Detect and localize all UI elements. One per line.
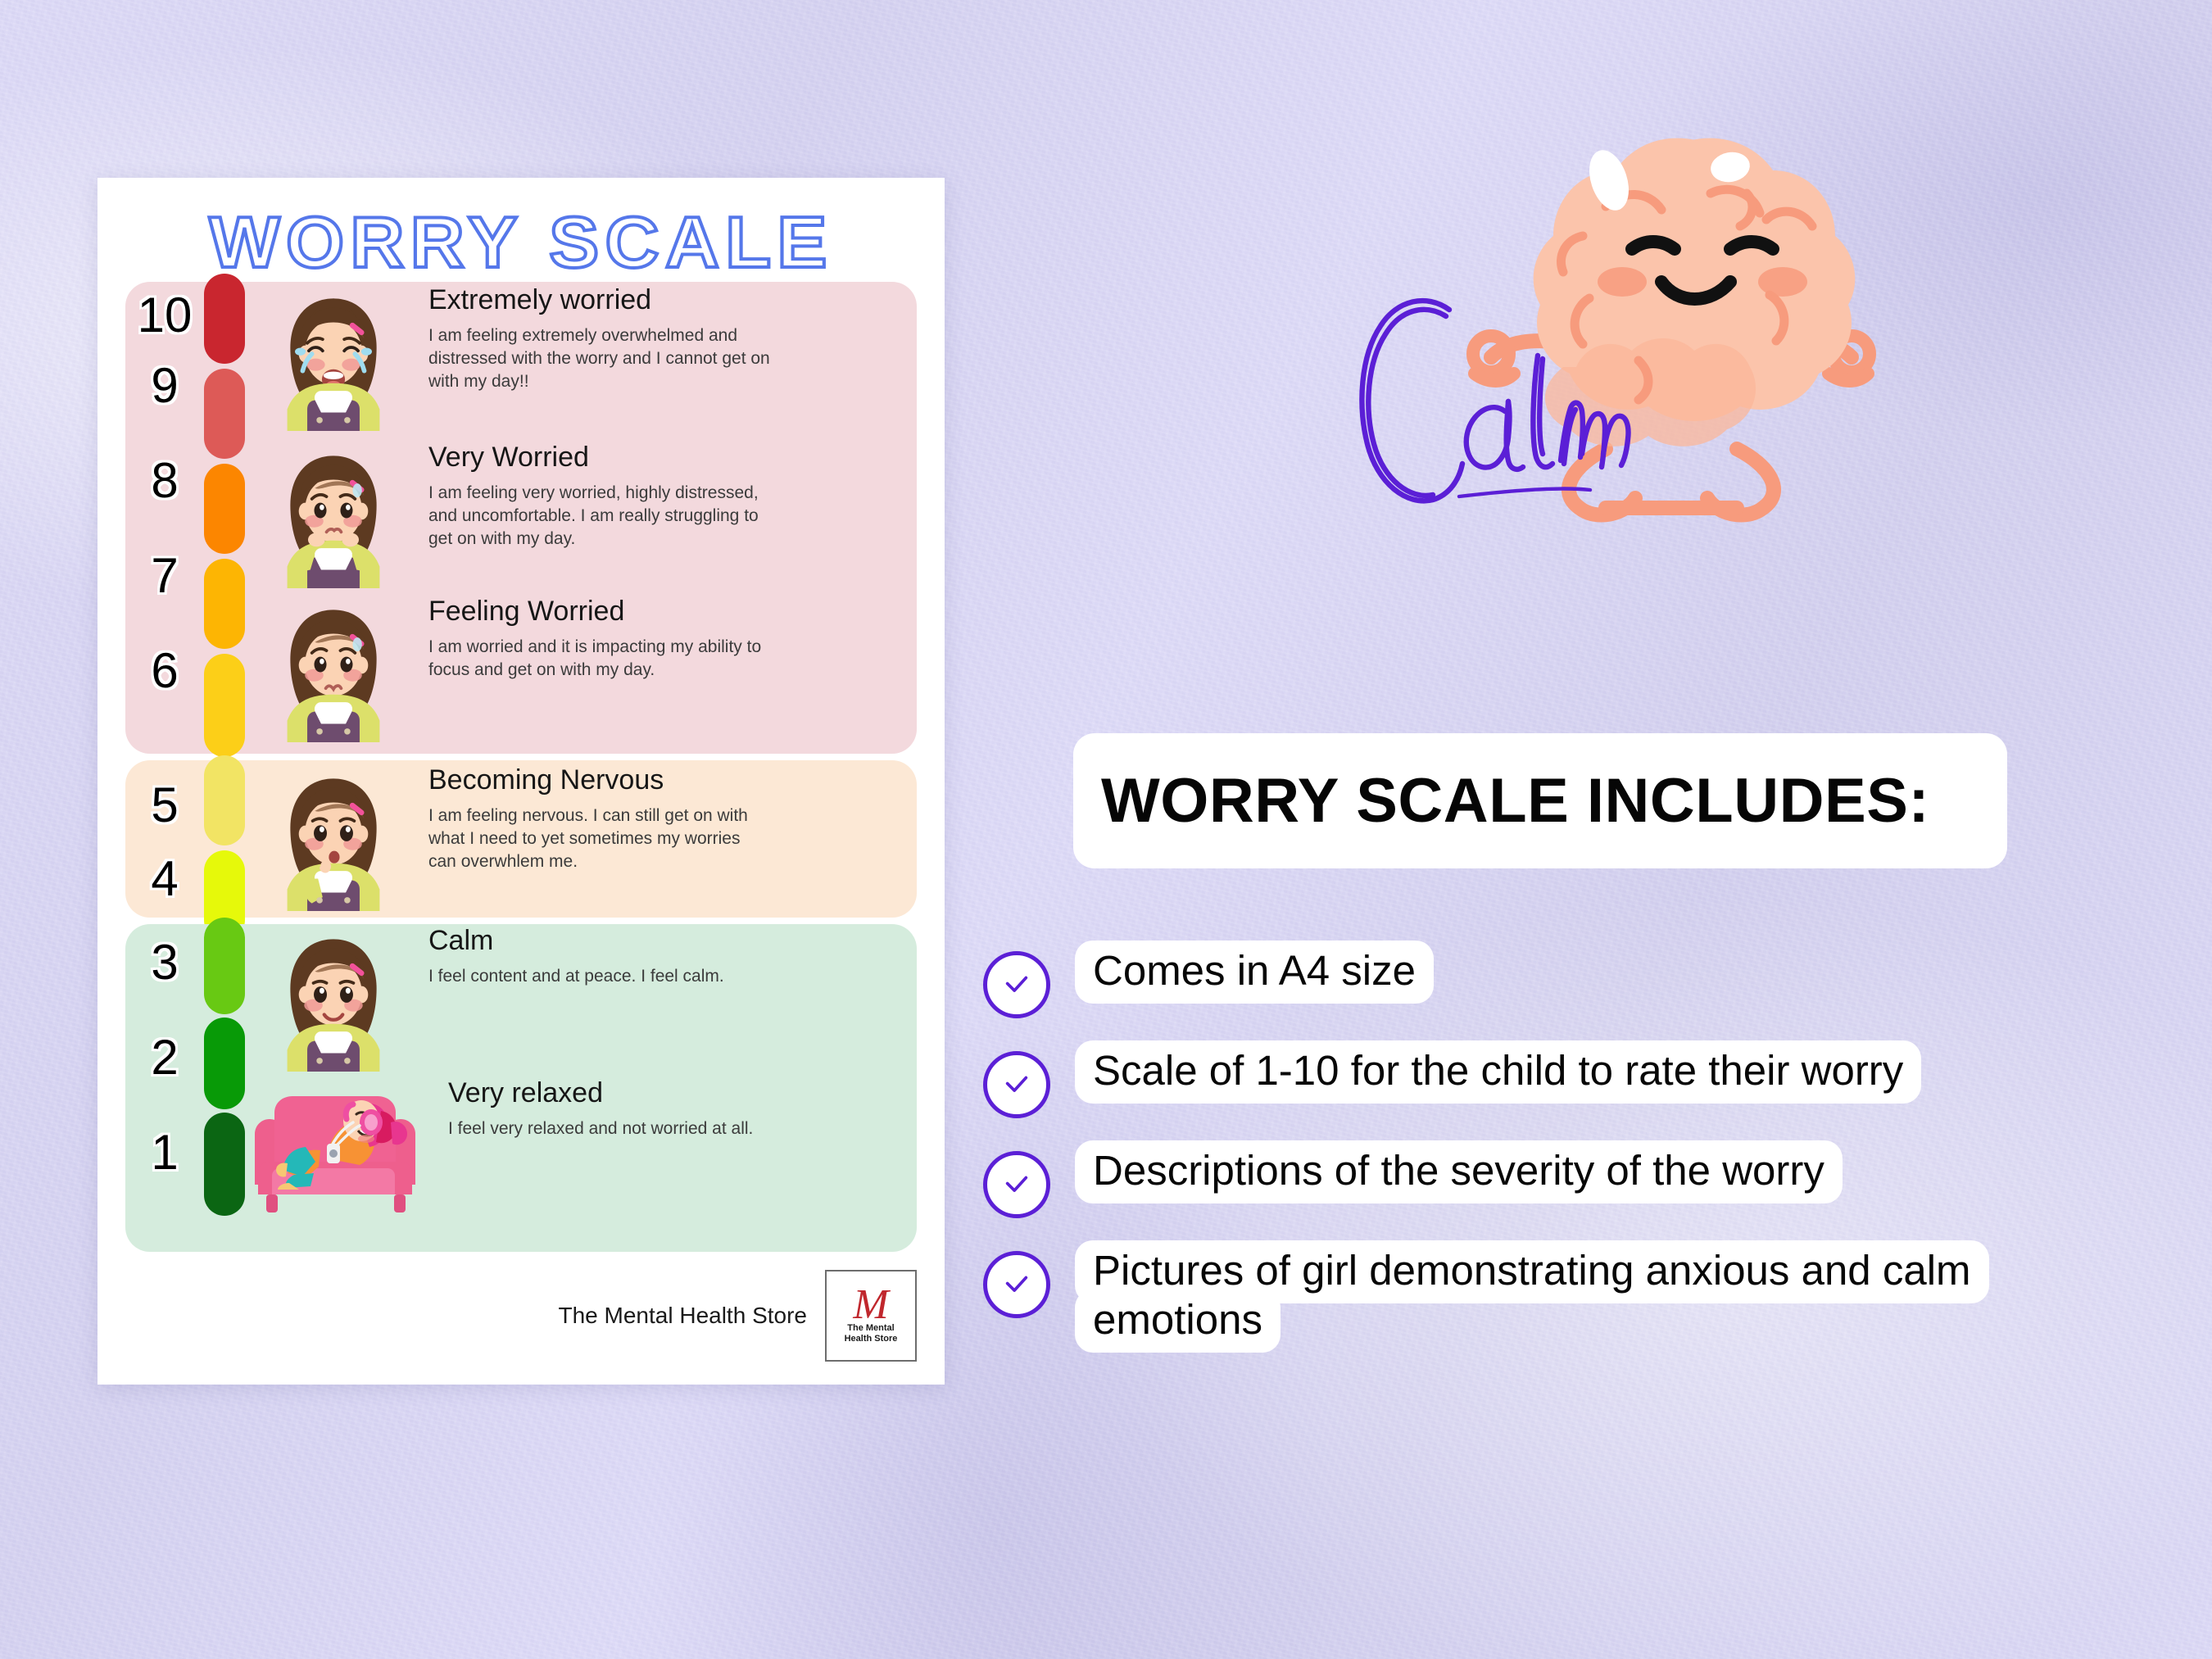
- check-circle-icon: [983, 1251, 1050, 1318]
- scale-number-2: 2: [125, 1029, 204, 1086]
- band-nervous: 5 4: [125, 760, 917, 918]
- poster-footer: The Mental Health Store M The Mental Hea…: [97, 1270, 945, 1362]
- calm-script-word: [1348, 254, 1725, 549]
- row-heading: Becoming Nervous: [428, 765, 773, 796]
- row-description: I am feeling extremely overwhelmed and d…: [428, 324, 773, 393]
- scale-row-becoming-nervous: Becoming Nervous I am feeling nervous. I…: [256, 757, 773, 911]
- scale-number-7: 7: [125, 547, 204, 604]
- girl-crying-icon: [256, 277, 410, 431]
- feature-text: Scale of 1-10 for the child to rate thei…: [1075, 1046, 1921, 1095]
- poster-title: WORRY SCALE: [97, 201, 945, 284]
- girl-worried-icon: [256, 588, 410, 742]
- scale-number-4: 4: [125, 850, 204, 907]
- check-icon: [1003, 1171, 1031, 1199]
- scale-number-10: 10: [125, 287, 204, 343]
- check-icon: [1003, 971, 1031, 999]
- scale-row-feeling-worried: Feeling Worried I am worried and it is i…: [256, 588, 773, 742]
- row-description: I am worried and it is impacting my abil…: [428, 636, 773, 682]
- worry-scale-poster: WORRY SCALE 10 9 8 7 6: [97, 178, 945, 1385]
- check-icon: [1003, 1071, 1031, 1099]
- check-icon: [1003, 1271, 1031, 1299]
- color-pill-7: [204, 559, 245, 649]
- scale-row-very-relaxed: Very relaxed I feel very relaxed and not…: [256, 1075, 753, 1222]
- logo-line-1: The Mental: [847, 1323, 894, 1333]
- scale-number-8: 8: [125, 452, 204, 509]
- logo-line-2: Health Store: [845, 1334, 898, 1344]
- band-calm: 3 2 1: [125, 924, 917, 1252]
- row-heading: Extremely worried: [428, 285, 773, 315]
- color-pill-6: [204, 654, 245, 757]
- includes-heading-box: WORRY SCALE INCLUDES:: [1073, 733, 2007, 868]
- row-heading: Calm: [428, 926, 724, 956]
- band-worried: 10 9 8 7 6: [125, 282, 917, 754]
- girl-relaxed-armchair-icon: [242, 1075, 430, 1222]
- scale-number-9: 9: [125, 357, 204, 414]
- check-circle-icon: [983, 1151, 1050, 1218]
- list-item: Pictures of girl demonstrating anxious a…: [983, 1246, 2146, 1344]
- color-pill-1: [204, 1113, 245, 1216]
- row-heading: Feeling Worried: [428, 596, 773, 627]
- scale-bands: 10 9 8 7 6: [125, 282, 917, 1252]
- girl-calm-icon: [256, 918, 410, 1072]
- color-pill-8: [204, 464, 245, 554]
- scale-number-5: 5: [125, 777, 204, 833]
- girl-very-worried-icon: [256, 434, 410, 588]
- color-pill-9: [204, 369, 245, 459]
- color-pill-2: [204, 1018, 245, 1109]
- includes-heading: WORRY SCALE INCLUDES:: [1073, 765, 1929, 836]
- row-description: I feel very relaxed and not worried at a…: [448, 1117, 753, 1140]
- list-item: Comes in A4 size: [983, 946, 2146, 1018]
- girl-nervous-icon: [256, 757, 410, 911]
- scale-number-3: 3: [125, 934, 204, 990]
- scale-row-very-worried: Very Worried I am feeling very worried, …: [256, 434, 773, 588]
- row-description: I am feeling nervous. I can still get on…: [428, 805, 773, 873]
- features-list: Comes in A4 size Scale of 1-10 for the c…: [983, 946, 2146, 1372]
- calm-handlettering-icon: [1348, 254, 1725, 549]
- list-item: Scale of 1-10 for the child to rate thei…: [983, 1046, 2146, 1118]
- row-heading: Very relaxed: [448, 1078, 753, 1108]
- feature-text: Descriptions of the severity of the worr…: [1075, 1146, 1843, 1195]
- check-circle-icon: [983, 1051, 1050, 1118]
- color-pill-10: [204, 274, 245, 364]
- row-heading: Very Worried: [428, 442, 773, 473]
- row-description: I feel content and at peace. I feel calm…: [428, 965, 724, 988]
- scale-row-calm: Calm I feel content and at peace. I feel…: [256, 918, 724, 1072]
- brand-name: The Mental Health Store: [559, 1303, 808, 1329]
- color-pill-5: [204, 755, 245, 845]
- scale-number-6: 6: [125, 642, 204, 699]
- list-item: Descriptions of the severity of the worr…: [983, 1146, 2146, 1218]
- check-circle-icon: [983, 951, 1050, 1018]
- logo-mark-m: M: [853, 1288, 888, 1322]
- color-pill-3: [204, 918, 245, 1014]
- scale-row-extremely-worried: Extremely worried I am feeling extremely…: [256, 277, 773, 431]
- mental-health-store-logo: M The Mental Health Store: [825, 1270, 917, 1362]
- scale-number-1: 1: [125, 1124, 204, 1181]
- feature-text: Pictures of girl demonstrating anxious a…: [1075, 1246, 1992, 1344]
- row-description: I am feeling very worried, highly distre…: [428, 482, 773, 551]
- feature-text: Comes in A4 size: [1075, 946, 1434, 995]
